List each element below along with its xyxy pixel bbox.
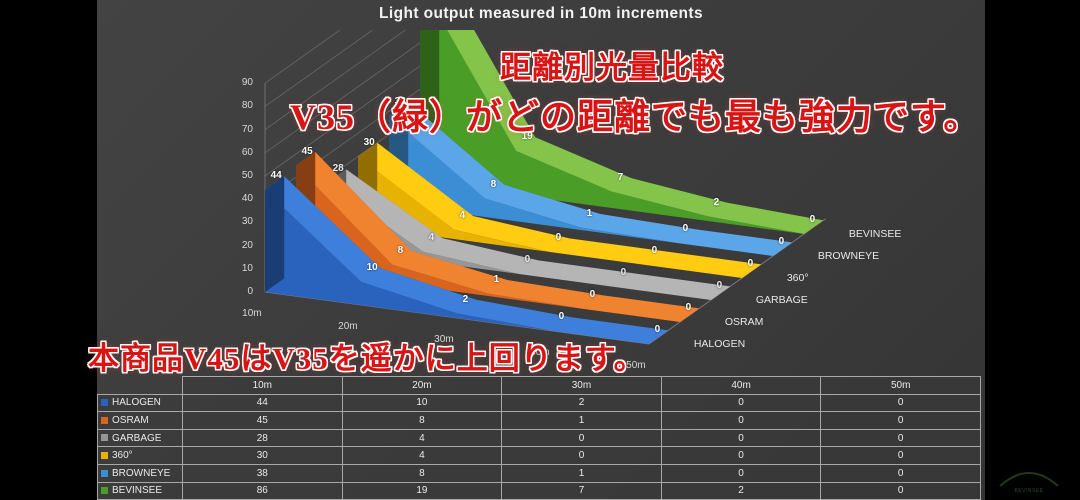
data-label-osram-40m: 0: [590, 289, 596, 300]
series-axis-label-garbage: GARBAGE: [756, 294, 808, 306]
x-axis-label-20m: 20m: [338, 321, 357, 332]
table-cell: 0: [502, 447, 662, 465]
watermark-label: BEVINSEE: [992, 488, 1066, 494]
table-cell: 0: [821, 394, 981, 412]
data-label-garbage-20m: 4: [429, 232, 435, 243]
data-label-bevinsee-30m: 7: [618, 172, 624, 183]
legend-swatch-icon: [101, 452, 108, 459]
legend-swatch-icon: [101, 417, 108, 424]
overlay-text-line2: V35（緑）がどの距離でも最も強力です。: [290, 88, 980, 140]
data-label-halogen-30m: 2: [463, 294, 469, 305]
y-axis-tick-60: 60: [227, 147, 253, 158]
table-cell: 30: [183, 447, 343, 465]
legend-swatch-icon: [101, 470, 108, 477]
data-label-osram-30m: 1: [494, 274, 500, 285]
table-cell: 0: [661, 394, 821, 412]
table-cell: 0: [661, 429, 821, 447]
data-label-360-40m: 0: [652, 245, 658, 256]
y-axis-tick-50: 50: [227, 170, 253, 181]
data-label-bevinsee-40m: 2: [714, 197, 720, 208]
y-axis-tick-30: 30: [227, 216, 253, 227]
series-axis-label-browneye: BROWNEYE: [818, 250, 879, 262]
table-col-header-10m: 10m: [183, 377, 343, 395]
table-corner-cell: [98, 377, 183, 395]
y-axis-tick-0: 0: [227, 286, 253, 297]
table-cell: 7: [502, 482, 662, 500]
arc-logo-icon: [992, 456, 1066, 492]
table-cell: 0: [821, 447, 981, 465]
data-label-360-30m: 0: [556, 232, 562, 243]
table-row: BEVINSEE8619720: [98, 482, 981, 500]
overlay-text-line3: 本商品V45はV35を遥かに上回ります。: [88, 333, 646, 378]
data-label-halogen-20m: 10: [367, 262, 378, 273]
data-label-osram-20m: 8: [398, 245, 404, 256]
table-cell: 2: [661, 482, 821, 500]
table-cell: 1: [502, 464, 662, 482]
data-label-halogen-50m: 0: [655, 324, 661, 335]
table-cell: 10: [342, 394, 502, 412]
table-cell: 19: [342, 482, 502, 500]
data-label-osram-50m: 0: [686, 302, 692, 313]
table-row-label-360°: 360°: [98, 447, 183, 465]
table-header-row: 10m20m30m40m50m: [98, 377, 981, 395]
table-cell: 4: [342, 447, 502, 465]
table-cell: 0: [661, 412, 821, 430]
table-row: OSRAM458100: [98, 412, 981, 430]
overlay-text-line1: 距離別光量比較: [500, 42, 724, 87]
table-row: GARBAGE284000: [98, 429, 981, 447]
legend-swatch-icon: [101, 487, 108, 494]
table-cell: 0: [661, 464, 821, 482]
table-cell: 28: [183, 429, 343, 447]
data-label-garbage-50m: 0: [717, 280, 723, 291]
table-cell: 0: [821, 482, 981, 500]
data-label-bevinsee-50m: 0: [810, 214, 816, 225]
chart-title: Light output measured in 10m increments: [97, 5, 985, 23]
table-row: BROWNEYE388100: [98, 464, 981, 482]
table-cell: 0: [821, 464, 981, 482]
data-label-garbage-40m: 0: [621, 267, 627, 278]
table-col-header-30m: 30m: [502, 377, 662, 395]
y-axis-tick-80: 80: [227, 100, 253, 111]
table-cell: 44: [183, 394, 343, 412]
table-cell: 0: [661, 447, 821, 465]
series-axis-label-360: 360°: [787, 272, 809, 284]
table-cell: 45: [183, 412, 343, 430]
y-axis-tick-90: 90: [227, 77, 253, 88]
y-axis-tick-40: 40: [227, 193, 253, 204]
table-col-header-20m: 20m: [342, 377, 502, 395]
data-label-360-20m: 4: [460, 210, 466, 221]
table-cell: 4: [342, 429, 502, 447]
table-cell: 2: [502, 394, 662, 412]
y-axis-tick-10: 10: [227, 263, 253, 274]
series-axis-label-bevinsee: BEVINSEE: [849, 228, 902, 240]
data-label-browneye-20m: 8: [491, 179, 497, 190]
screenshot-root: Light output measured in 10m increments …: [0, 0, 1080, 500]
table-body: HALOGEN4410200OSRAM458100GARBAGE28400036…: [98, 394, 981, 500]
data-table: 10m20m30m40m50m HALOGEN4410200OSRAM45810…: [97, 376, 981, 500]
table-row-label-bevinsee: BEVINSEE: [98, 482, 183, 500]
table-cell: 0: [821, 429, 981, 447]
table-row-label-halogen: HALOGEN: [98, 394, 183, 412]
y-axis-tick-70: 70: [227, 124, 253, 135]
table-cell: 86: [183, 482, 343, 500]
data-label-browneye-30m: 1: [587, 208, 593, 219]
data-label-browneye-40m: 0: [683, 223, 689, 234]
data-label-garbage-10m: 28: [333, 163, 344, 174]
series-axis-label-osram: OSRAM: [725, 316, 764, 328]
legend-swatch-icon: [101, 434, 108, 441]
data-label-halogen-10m: 44: [271, 170, 282, 181]
table-row: HALOGEN4410200: [98, 394, 981, 412]
data-label-garbage-30m: 0: [525, 254, 531, 265]
data-label-osram-10m: 45: [302, 146, 313, 157]
table-cell: 8: [342, 412, 502, 430]
table-col-header-50m: 50m: [821, 377, 981, 395]
table-row-label-osram: OSRAM: [98, 412, 183, 430]
table-row-label-browneye: BROWNEYE: [98, 464, 183, 482]
table-row-label-garbage: GARBAGE: [98, 429, 183, 447]
data-label-halogen-40m: 0: [559, 311, 565, 322]
x-axis-label-10m: 10m: [242, 308, 261, 319]
legend-swatch-icon: [101, 399, 108, 406]
table-col-header-40m: 40m: [661, 377, 821, 395]
series-axis-label-halogen: HALOGEN: [694, 338, 745, 350]
table-cell: 38: [183, 464, 343, 482]
y-axis-tick-20: 20: [227, 240, 253, 251]
data-label-browneye-50m: 0: [779, 236, 785, 247]
table-row: 360°304000: [98, 447, 981, 465]
data-label-360-50m: 0: [748, 258, 754, 269]
table-cell: 8: [342, 464, 502, 482]
table-cell: 1: [502, 412, 662, 430]
table-cell: 0: [821, 412, 981, 430]
table-cell: 0: [502, 429, 662, 447]
